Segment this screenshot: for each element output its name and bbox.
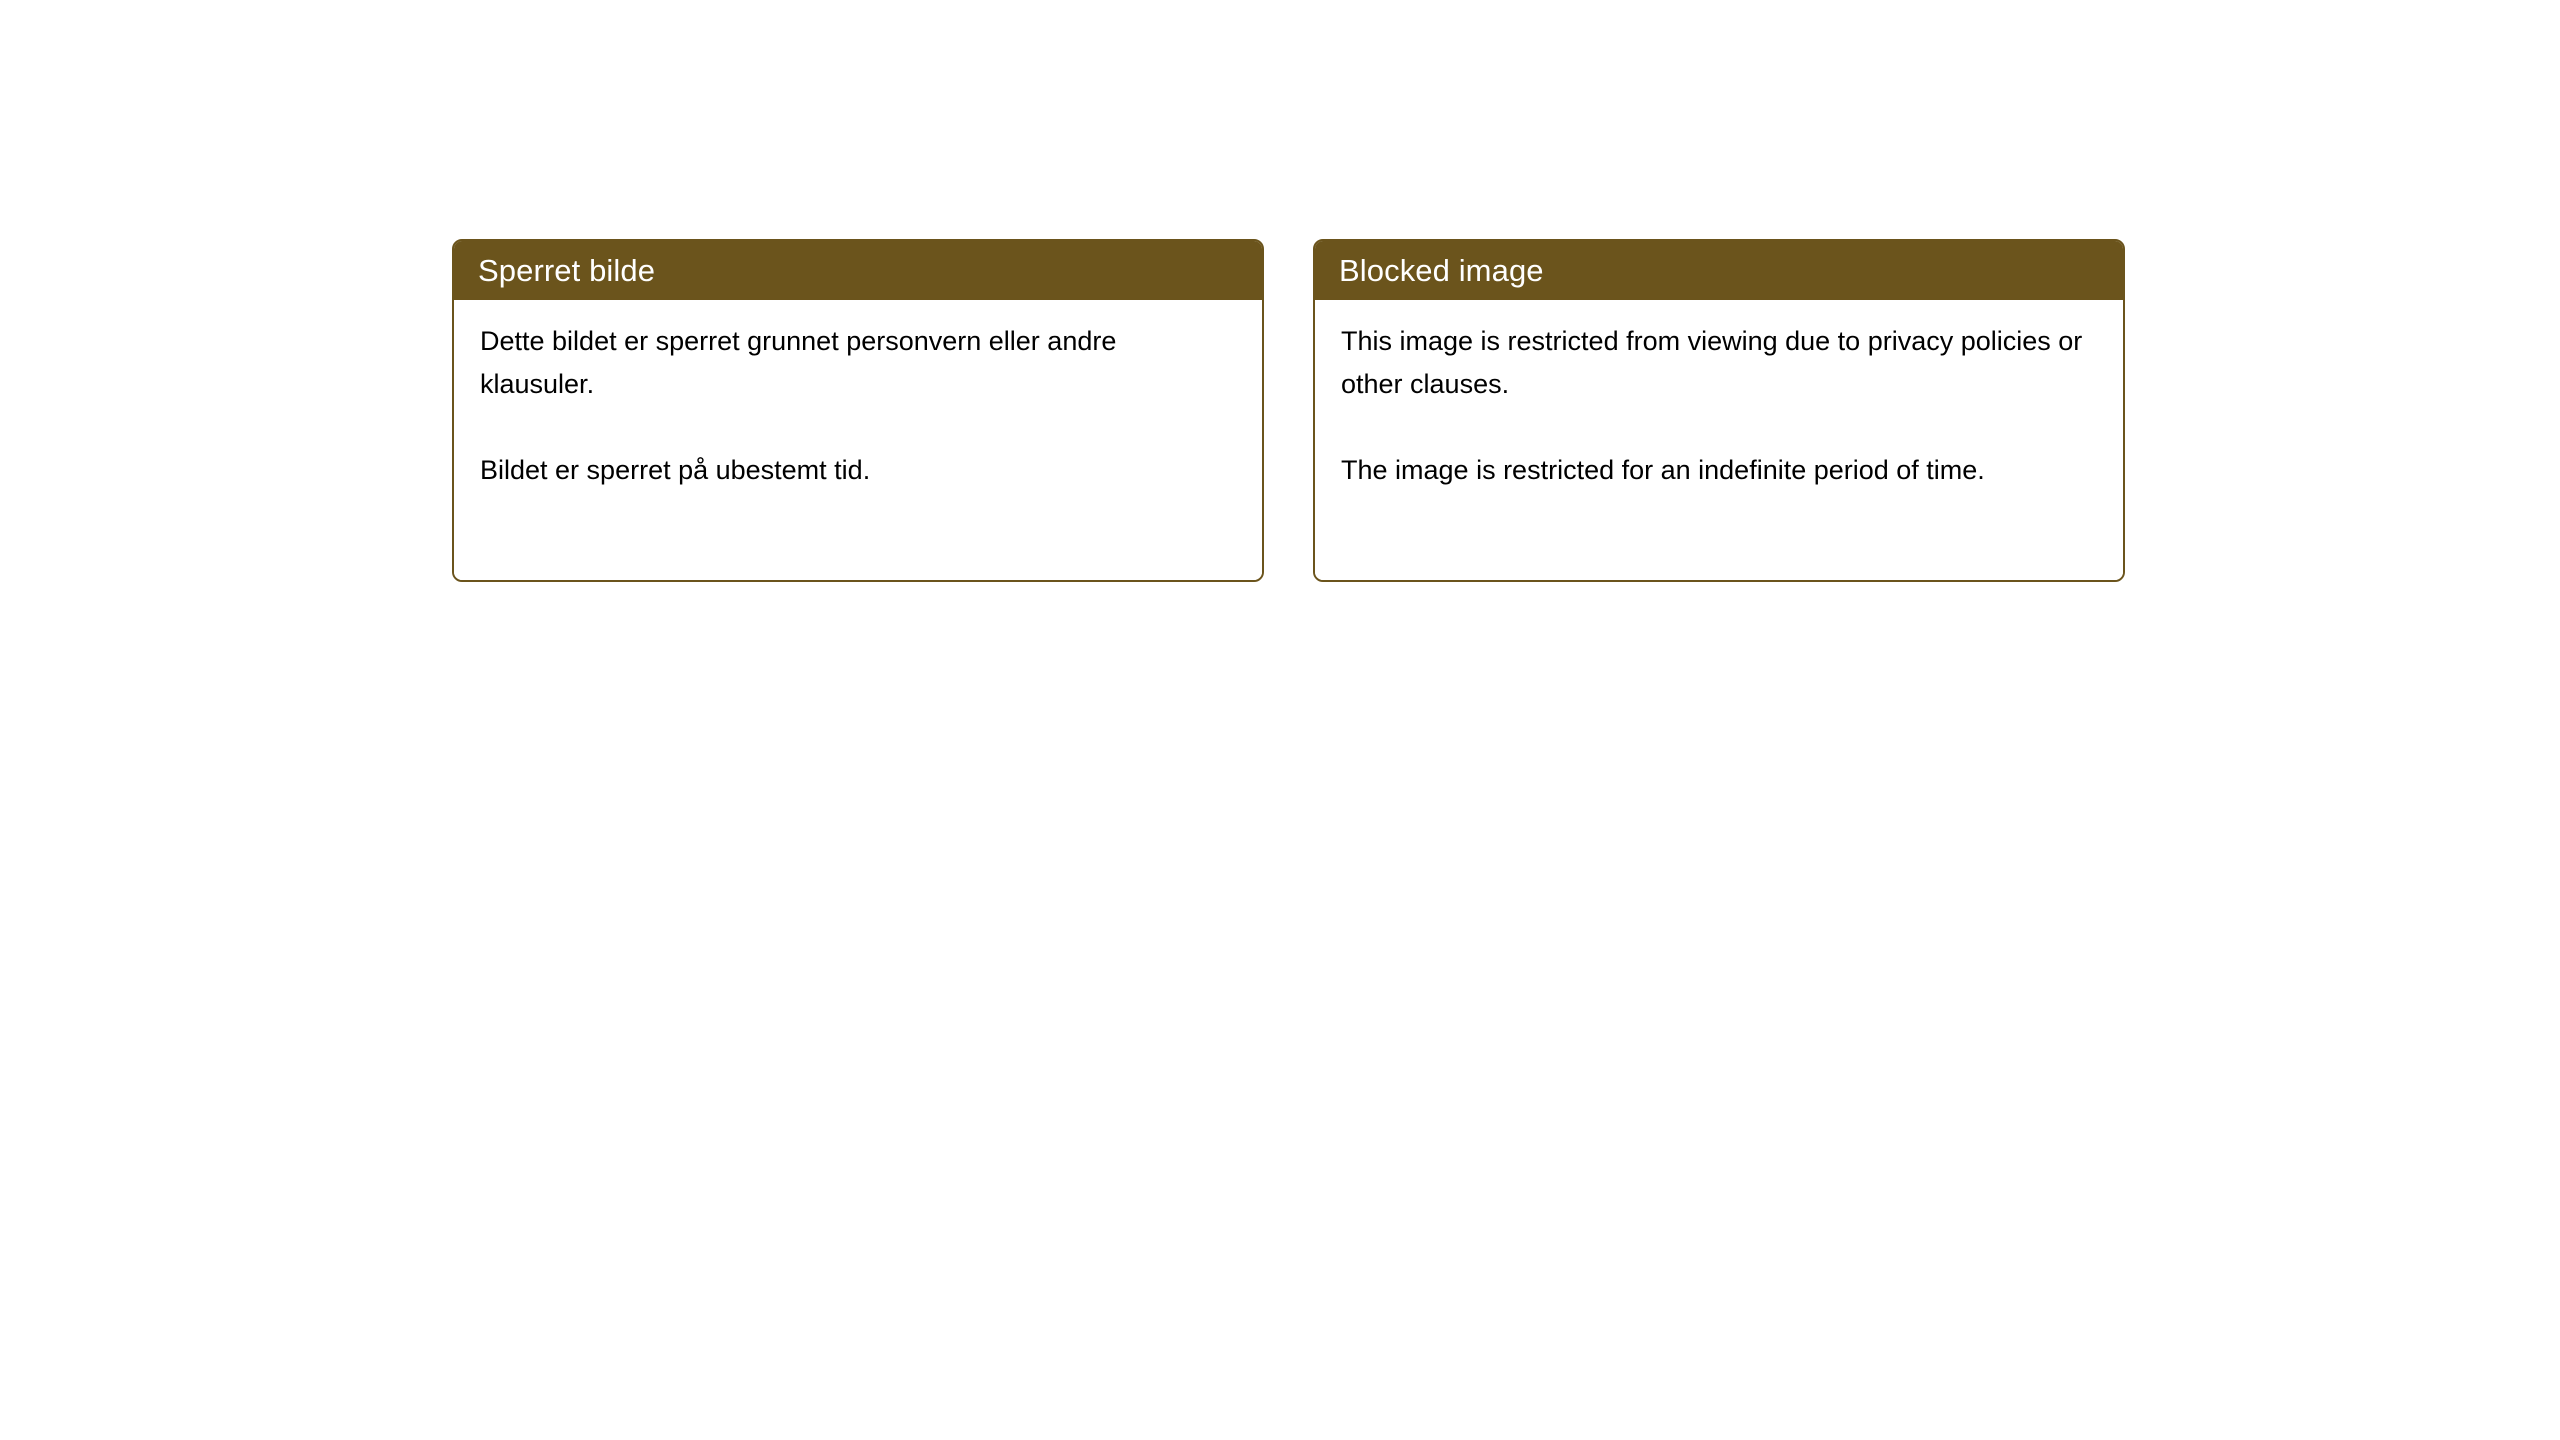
page-root: Sperret bilde Dette bildet er sperret gr…	[0, 0, 2560, 1440]
card-body-norwegian: Dette bildet er sperret grunnet personve…	[454, 300, 1262, 580]
card-paragraph-primary-english: This image is restricted from viewing du…	[1341, 320, 2096, 406]
card-title-english: Blocked image	[1339, 255, 1544, 286]
card-header-english: Blocked image	[1315, 241, 2123, 300]
blocked-image-card-english: Blocked image This image is restricted f…	[1313, 239, 2125, 582]
card-paragraph-secondary-norwegian: Bildet er sperret på ubestemt tid.	[480, 449, 1235, 492]
card-paragraph-primary-norwegian: Dette bildet er sperret grunnet personve…	[480, 320, 1235, 406]
card-header-norwegian: Sperret bilde	[454, 241, 1262, 300]
blocked-image-card-norwegian: Sperret bilde Dette bildet er sperret gr…	[452, 239, 1264, 582]
card-body-english: This image is restricted from viewing du…	[1315, 300, 2123, 580]
card-title-norwegian: Sperret bilde	[478, 255, 655, 286]
card-paragraph-secondary-english: The image is restricted for an indefinit…	[1341, 449, 2096, 492]
